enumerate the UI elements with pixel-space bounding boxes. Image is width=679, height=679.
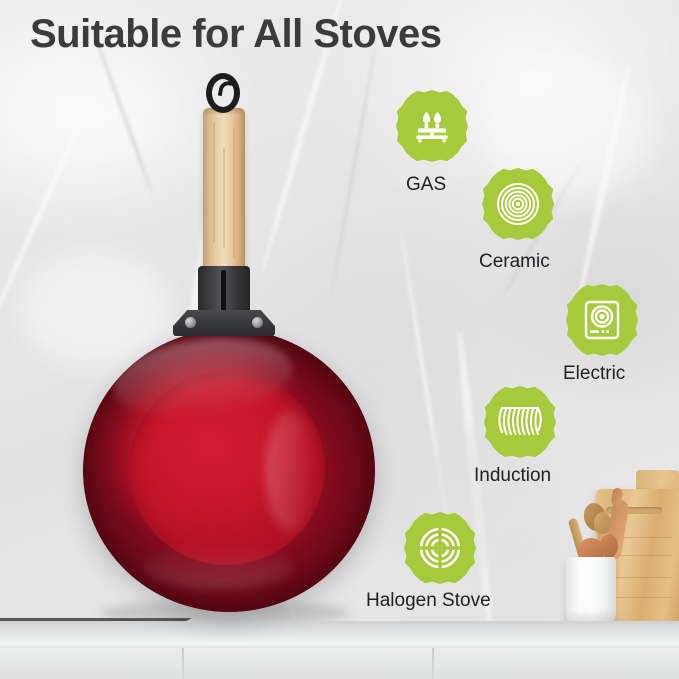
- wood-grain: [233, 128, 235, 258]
- cabinet-seam: [432, 648, 434, 679]
- gas-burner-icon: [412, 106, 452, 146]
- hanging-ring-icon: [206, 73, 240, 113]
- stove-badge-label-gas: GAS: [406, 174, 446, 196]
- stove-badge-label-induction: Induction: [474, 465, 551, 487]
- pan-highlight: [265, 411, 317, 531]
- induction-coil-icon: [497, 402, 543, 442]
- wood-grain: [213, 122, 215, 242]
- stove-badge-electric[interactable]: [566, 284, 638, 356]
- pan-highlight: [143, 543, 293, 589]
- electric-cooktop-icon: [581, 299, 623, 341]
- wood-grain: [223, 148, 225, 248]
- stove-badge-label-halogen: Halogen Stove: [366, 590, 491, 612]
- stove-badge-halogen[interactable]: [404, 512, 476, 584]
- product-infographic-scene: Suitable for All Stoves: [0, 0, 679, 679]
- utensil-crock: [566, 557, 616, 622]
- terracotta-utensil: [600, 534, 618, 558]
- stove-badge-label-ceramic: Ceramic: [479, 251, 550, 273]
- countertop: [0, 621, 679, 645]
- pan-body: [83, 329, 375, 612]
- cabinet-panels: [0, 648, 679, 679]
- cabinet-seam: [182, 648, 184, 679]
- ceramic-rings-icon: [496, 182, 540, 226]
- wooden-handle: [203, 108, 245, 273]
- halogen-rings-icon: [418, 526, 462, 570]
- stove-badge-induction[interactable]: [484, 386, 556, 458]
- stove-badge-gas[interactable]: [396, 90, 468, 162]
- stove-badge-label-electric: Electric: [563, 363, 625, 385]
- stove-badge-ceramic[interactable]: [482, 168, 554, 240]
- bracket-rivet: [185, 317, 196, 328]
- bracket-rivet: [252, 317, 263, 328]
